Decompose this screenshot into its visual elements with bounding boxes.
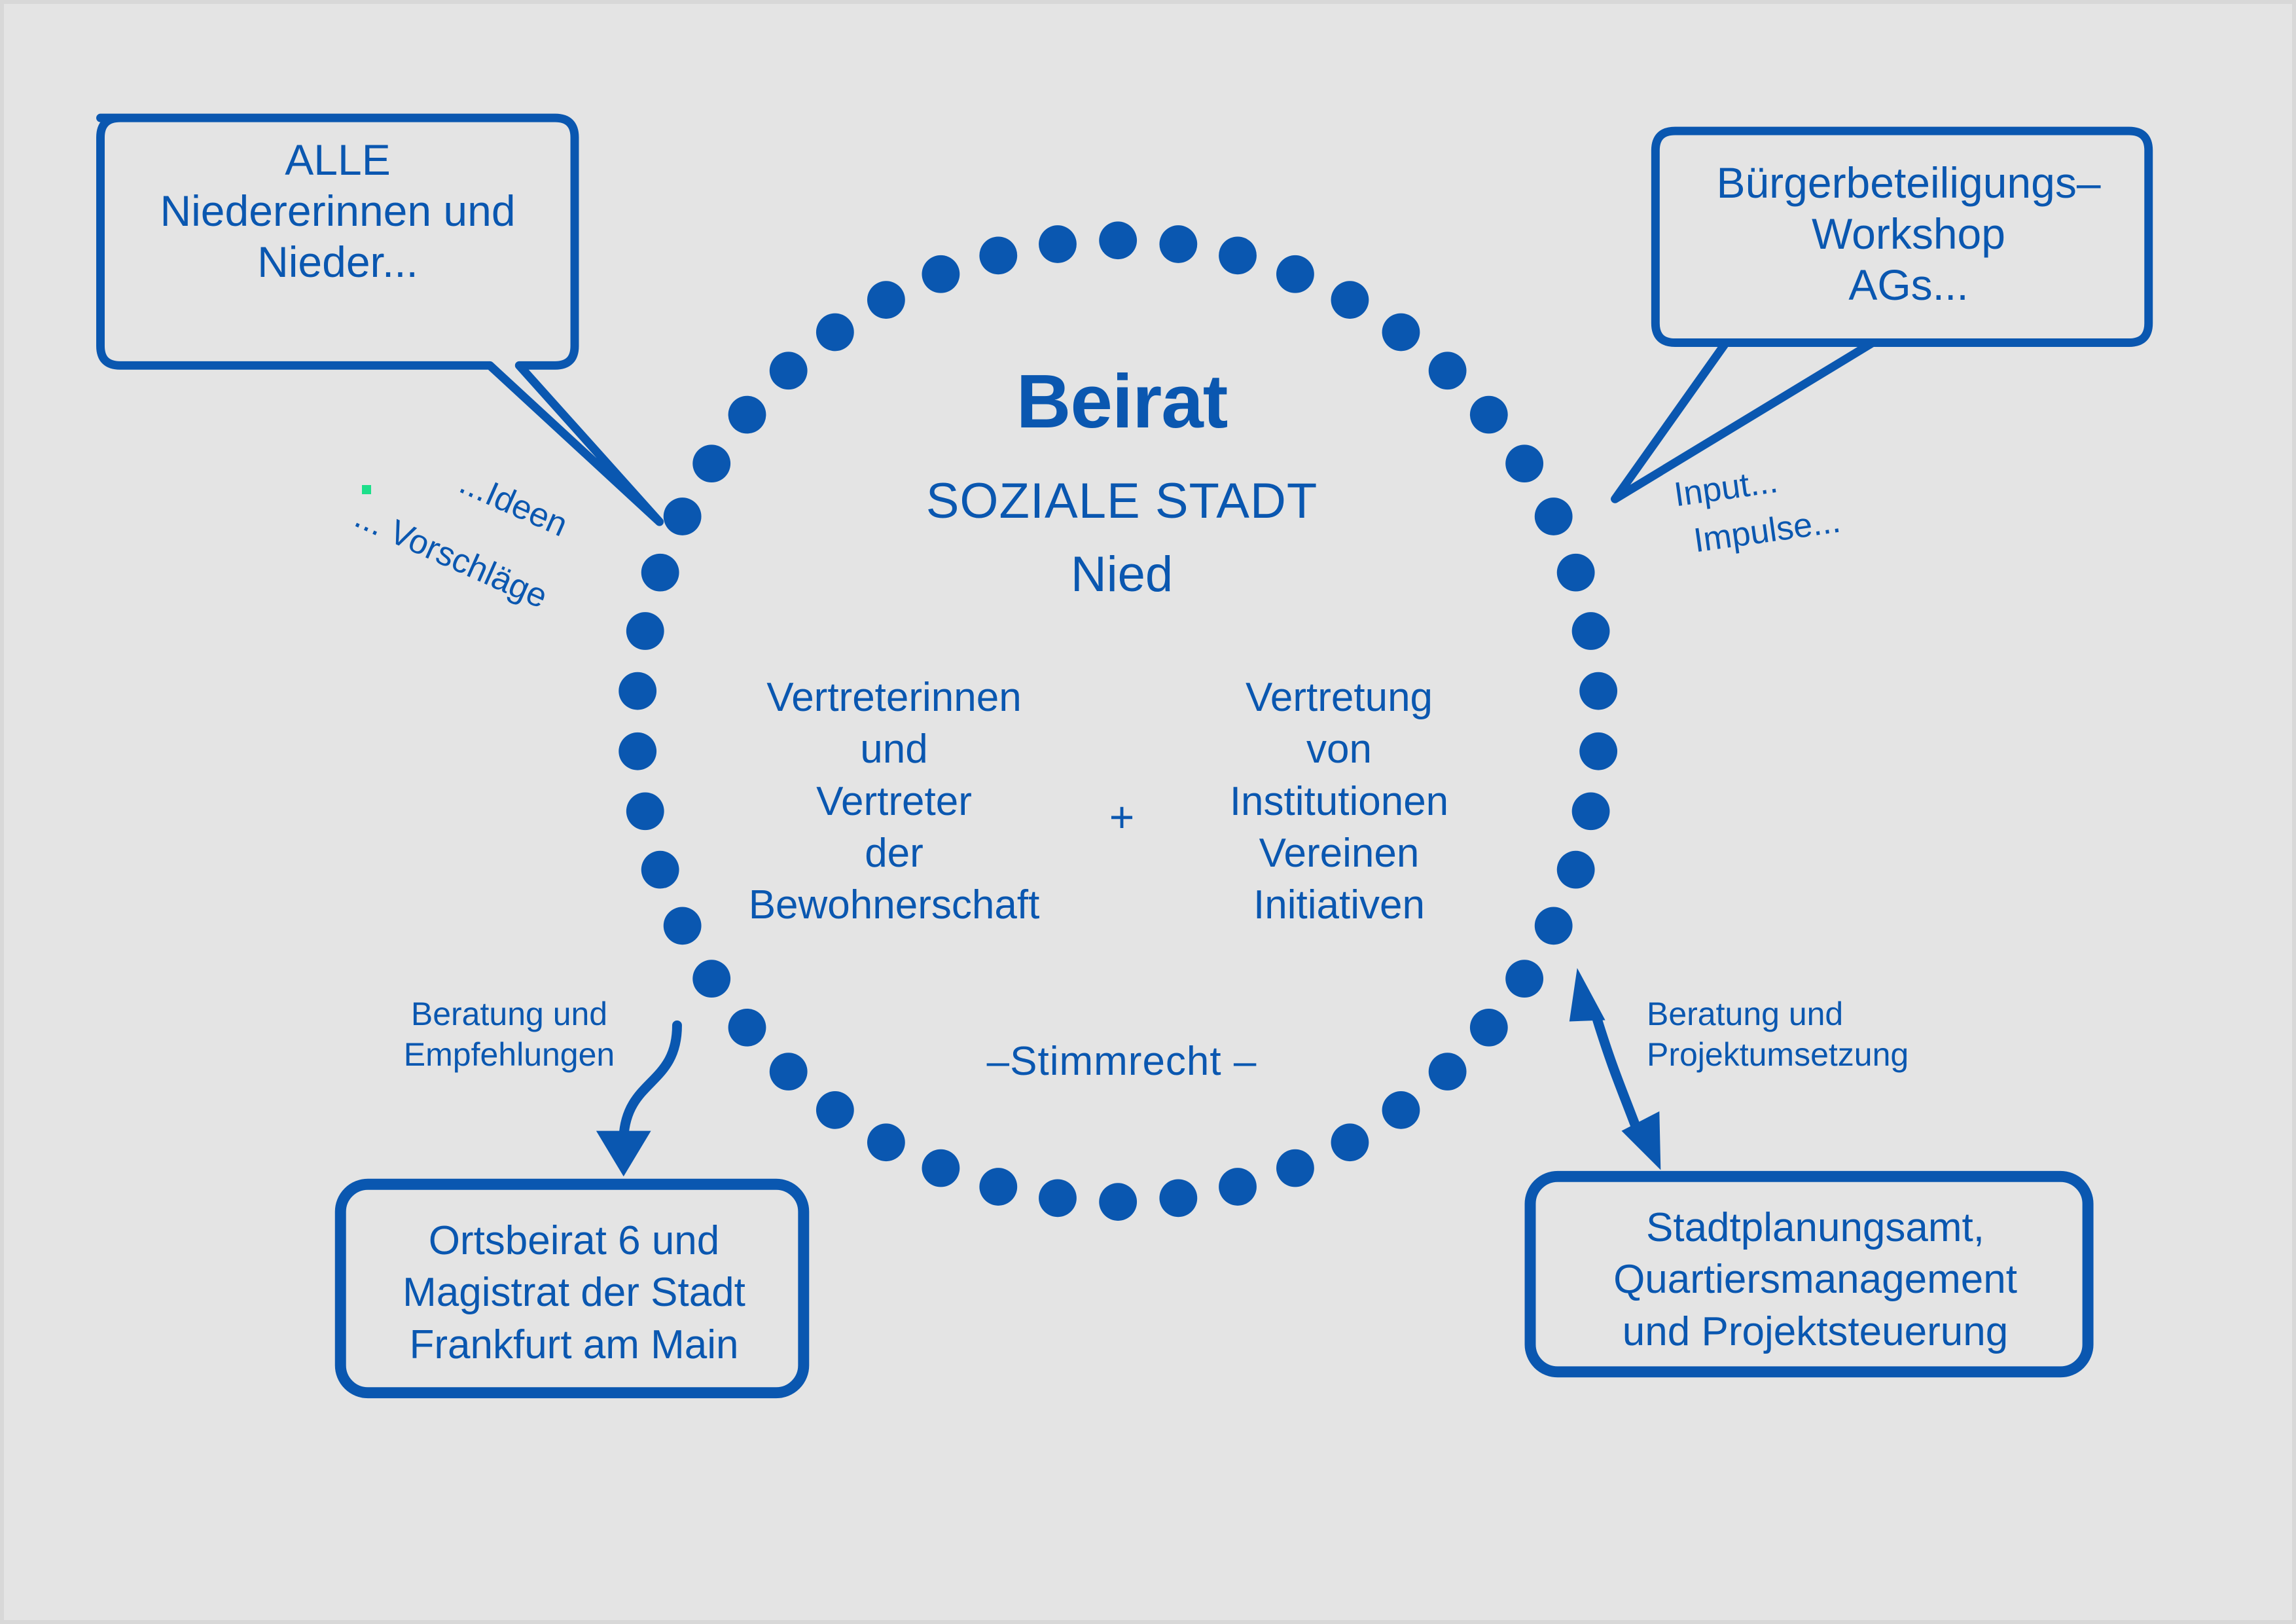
circle-dot <box>1219 236 1257 274</box>
circle-dot <box>1579 732 1617 770</box>
green-marker-dot <box>362 485 371 494</box>
circle-dot <box>1557 554 1595 592</box>
diagram-canvas: ALLE Niedererinnen und Nieder... Bürgerb… <box>0 0 2296 1624</box>
circle-dot <box>816 314 854 352</box>
circle-dot <box>1382 1091 1420 1129</box>
box-text-ortsbeirat: Ortsbeirat 6 und Magistrat der Stadt Fra… <box>342 1215 806 1371</box>
circle-dot <box>1505 960 1543 998</box>
circle-dot <box>626 792 664 830</box>
subtitle-nied: Nied <box>1071 546 1173 604</box>
circle-dot <box>867 1123 905 1161</box>
circle-dot <box>1579 672 1617 710</box>
circle-dot <box>867 281 905 319</box>
circle-dot <box>1429 1053 1467 1091</box>
circle-dot <box>1557 851 1595 889</box>
bubble-text-participation: Bürgerbeteiligungs– Workshop AGs... <box>1679 158 2138 311</box>
circle-dot <box>1331 1123 1369 1161</box>
stimmrecht-label: –Stimmrecht – <box>987 1038 1257 1085</box>
column-bewohnerschaft: Vertreterinnen und Vertreter der Bewohne… <box>749 672 1040 931</box>
circle-dot <box>664 907 702 945</box>
circle-dot <box>1039 225 1077 263</box>
circle-dot <box>1470 1009 1508 1047</box>
annotation-beratung-projektumsetzung: Beratung und Projektumsetzung <box>1647 994 1961 1075</box>
circle-dot <box>1099 221 1137 259</box>
circle-dot <box>1382 314 1420 352</box>
plus-symbol: + <box>1109 789 1135 844</box>
circle-dot <box>1099 1183 1137 1221</box>
circle-dot <box>1276 1149 1314 1187</box>
column-institutionen: Vertretung von Institutionen Vereinen In… <box>1230 672 1448 931</box>
subtitle-soziale-stadt: SOZIALE STADT <box>926 473 1318 530</box>
circle-dot <box>979 1168 1017 1206</box>
circle-dot <box>1572 612 1610 650</box>
circle-dot <box>1039 1179 1077 1217</box>
circle-dot <box>664 497 702 535</box>
circle-dot <box>1159 225 1197 263</box>
circle-dot <box>1159 1179 1197 1217</box>
circle-dot <box>619 672 656 710</box>
circle-dot <box>641 554 679 592</box>
page-title: Beirat <box>1016 357 1228 446</box>
circle-dot <box>979 236 1017 274</box>
circle-dot <box>1505 444 1543 482</box>
circle-dot <box>770 1053 808 1091</box>
circle-dot <box>692 444 730 482</box>
circle-dot <box>692 960 730 998</box>
circle-dot <box>728 396 766 434</box>
box-text-stadtplanungsamt: Stadtplanungsamt, Quartiersmanagement un… <box>1535 1202 2095 1358</box>
bubble-text-all-residents: ALLE Niedererinnen und Nieder... <box>122 135 554 288</box>
circle-dot <box>1429 352 1467 389</box>
circle-dot <box>770 352 808 389</box>
circle-dot <box>1219 1168 1257 1206</box>
circle-dot <box>1470 396 1508 434</box>
circle-dot <box>641 851 679 889</box>
circle-dot <box>1535 907 1573 945</box>
circle-dot <box>619 732 656 770</box>
circle-dot <box>1276 255 1314 293</box>
circle-dot <box>816 1091 854 1129</box>
circle-dot <box>626 612 664 650</box>
circle-dot <box>922 255 960 293</box>
circle-dot <box>1535 497 1573 535</box>
circle-dot <box>922 1149 960 1187</box>
circle-dot <box>728 1009 766 1047</box>
circle-dot <box>1572 792 1610 830</box>
annotation-beratung-empfehlungen: Beratung und Empfehlungen <box>372 994 647 1075</box>
circle-dot <box>1331 281 1369 319</box>
